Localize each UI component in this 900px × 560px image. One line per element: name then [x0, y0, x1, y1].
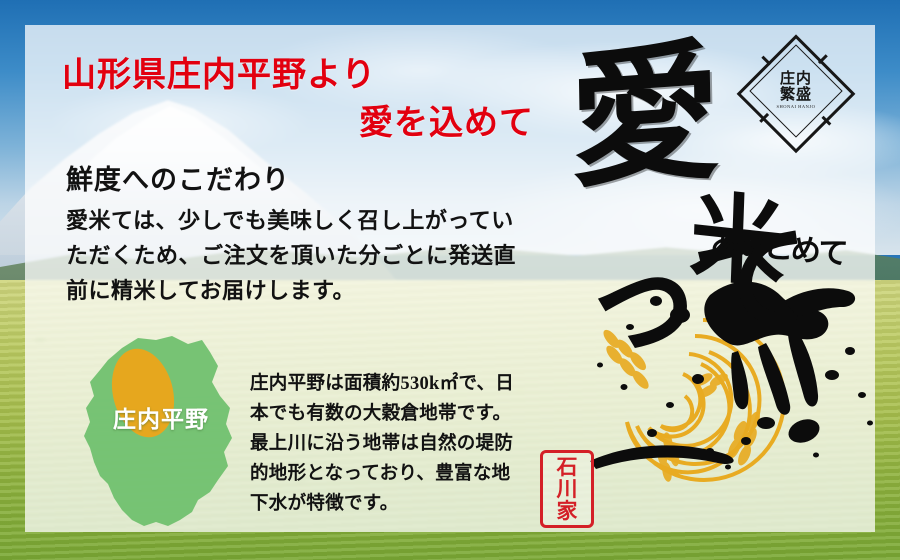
description-paragraph: 庄内平野は面積約530k㎡で、日本でも有数の大穀倉地帯です。最上川に沿う地帯は自… — [250, 370, 515, 520]
stamp-char-3: 家 — [557, 500, 578, 522]
map-label: 庄内平野 — [113, 400, 209, 434]
stamp-char-1: 石 — [557, 456, 578, 478]
body-paragraph: 愛米ては、少しでも美味しく召し上がっていただくため、ご注文を頂いた分ごとに発送直… — [66, 204, 536, 308]
headline-line-2: 愛を込めて — [62, 100, 542, 148]
headline-line-1: 山形県庄内平野より — [62, 57, 376, 94]
sub-heading: 鮮度へのこだわり — [66, 158, 290, 197]
rice-product-banner: 山形県庄内平野より 愛を込めて 鮮度へのこだわり 愛米ては、少しでも美味しく召し… — [0, 0, 900, 560]
brush-calligraphy: 愛 米 って あいこめて — [560, 45, 860, 335]
yamagata-map — [60, 330, 260, 540]
red-family-stamp: 石 川 家 — [540, 450, 594, 528]
calligraphy-char-tte: って — [569, 180, 825, 385]
stamp-char-2: 川 — [557, 478, 578, 500]
headline: 山形県庄内平野より 愛を込めて — [62, 52, 542, 149]
map-svg — [60, 330, 260, 540]
